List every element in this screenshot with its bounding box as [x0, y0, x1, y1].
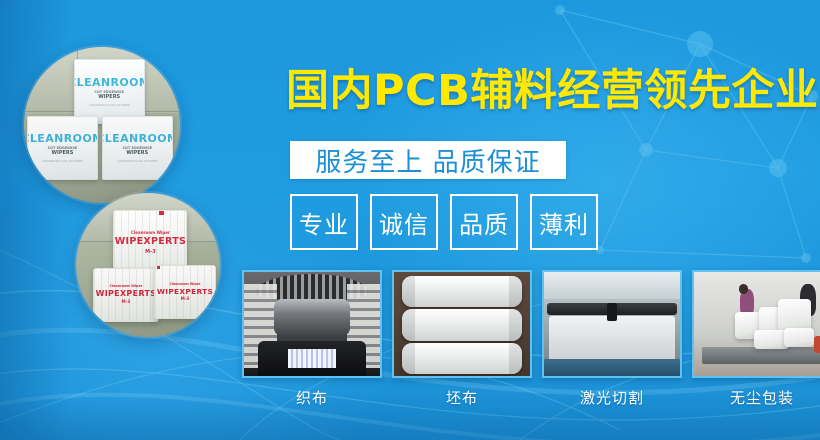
wipexperts-pack-brand: WIPEXPERTS [96, 290, 157, 298]
cleanroom-pack-line3: WIPERS [98, 94, 120, 100]
process-photo-laser-cutter [542, 270, 682, 378]
cleanroom-pack-brand: CLEANROOM [74, 77, 145, 88]
page-title: 国内PCB辅料经营领先企业 [286, 70, 818, 113]
wipexperts-pack-model: M-3 [122, 300, 131, 304]
subtitle-text: 服务至上 品质保证 [315, 142, 540, 179]
product-circle-cleanroom: CLEANROOM CUT EDGEWISE WIPERS CLEANROOM … [24, 47, 180, 203]
promo-banner: CLEANROOM CUT EDGEWISE WIPERS CLEANROOM … [0, 0, 820, 440]
product-circle-wipexperts: Cleanroom Wiper WIPEXPERTS M-3 Cleanroom… [76, 193, 220, 337]
wipexperts-pack-top: Cleanroom Wiper [131, 231, 170, 235]
process-photo-knitting-machine [242, 270, 382, 378]
wipexperts-pack-model: M-3 [145, 250, 156, 255]
process-photo-strip: 织布 坯布 激光切割 [242, 270, 820, 408]
process-item-laser-cutting: 激光切割 [542, 270, 682, 408]
process-caption: 坯布 [392, 387, 532, 408]
cleanroom-pack-line3: WIPERS [126, 150, 148, 156]
cleanroom-pack-brand: CLEANROOM [102, 133, 173, 144]
wipexperts-pack-top: Cleanroom Wiper [169, 283, 200, 286]
process-photo-cleanroom-packing [692, 270, 820, 378]
wipexperts-pack-model: M-3 [181, 297, 189, 301]
cleanroom-pack-line4: CLEANROOM CLASS 100 WIPER [117, 160, 158, 163]
wipexperts-pack-top: Cleanroom Wiper [109, 285, 142, 288]
keyword-box-pinzhi: 品质 [450, 194, 518, 250]
process-caption: 织布 [242, 387, 382, 408]
subtitle-bar: 服务至上 品质保证 [290, 141, 566, 179]
process-item-weaving: 织布 [242, 270, 382, 408]
keyword-box-group: 专业 诚信 品质 薄利 [290, 194, 598, 250]
process-photo-fabric-rolls [392, 270, 532, 378]
process-caption: 无尘包装 [692, 387, 820, 408]
cleanroom-pack-line4: CLEANROOM CLASS 100 WIPER [89, 104, 130, 107]
wipexperts-pack-brand: WIPEXPERTS [115, 237, 186, 247]
process-caption: 激光切割 [542, 387, 682, 408]
process-item-greige-fabric: 坯布 [392, 270, 532, 408]
keyword-box-zhuanye: 专业 [290, 194, 358, 250]
wipexperts-pack-brand: WIPEXPERTS [157, 288, 213, 295]
cleanroom-pack-brand: CLEANROOM [27, 133, 98, 144]
process-item-cleanroom-packing: 无尘包装 [692, 270, 820, 408]
cleanroom-pack-line3: WIPERS [51, 150, 73, 156]
keyword-box-baoli: 薄利 [530, 194, 598, 250]
keyword-box-chengxin: 诚信 [370, 194, 438, 250]
cleanroom-pack-line4: CLEANROOM CLASS 100 WIPER [42, 160, 83, 163]
